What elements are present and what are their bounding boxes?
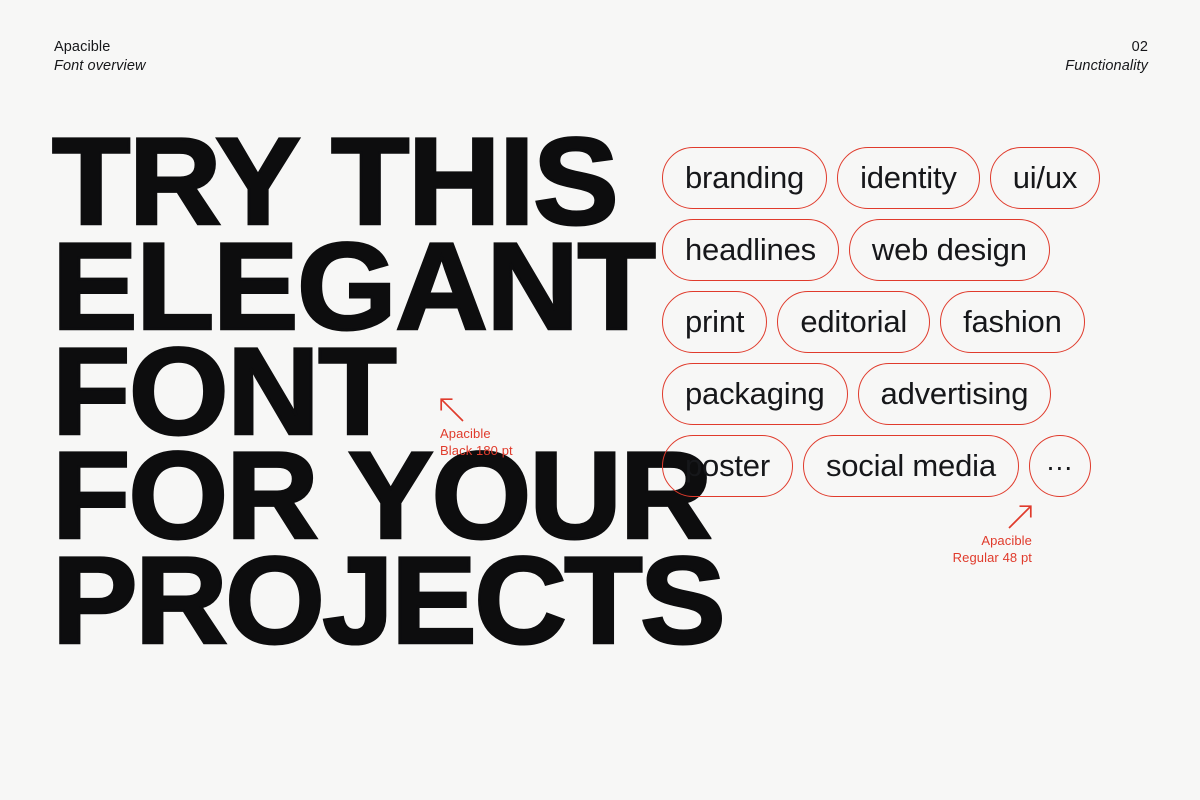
tag-pill-advertising[interactable]: advertising bbox=[858, 363, 1052, 425]
tag-pill-identity[interactable]: identity bbox=[837, 147, 980, 209]
tag-pill-print[interactable]: print bbox=[662, 291, 767, 353]
annotation-line-1: Apacible bbox=[953, 533, 1032, 550]
tag-row: poster social media … bbox=[662, 435, 1152, 497]
tag-pill-uiux[interactable]: ui/ux bbox=[990, 147, 1100, 209]
arrow-up-right-icon bbox=[1006, 505, 1032, 531]
tag-row: print editorial fashion bbox=[662, 291, 1152, 353]
annotation-line-1: Apacible bbox=[440, 426, 513, 443]
tag-pill-web-design[interactable]: web design bbox=[849, 219, 1050, 281]
slide-number: 02 bbox=[1065, 38, 1148, 57]
header-right: 02 Functionality bbox=[1065, 38, 1148, 76]
font-specimen-slide: Apacible Font overview 02 Functionality … bbox=[0, 0, 1200, 800]
headline-block: TRY THIS ELEGANT FONT FOR YOUR PROJECTS bbox=[52, 130, 732, 654]
annotation-tag-spec: Apacible Regular 48 pt bbox=[953, 505, 1032, 566]
tag-pill-editorial[interactable]: editorial bbox=[777, 291, 930, 353]
annotation-line-2: Black 180 pt bbox=[440, 443, 513, 460]
tag-pill-branding[interactable]: branding bbox=[662, 147, 827, 209]
tag-pill-more[interactable]: … bbox=[1029, 435, 1091, 497]
section-name: Functionality bbox=[1065, 57, 1148, 76]
annotation-text: Apacible Regular 48 pt bbox=[953, 533, 1032, 566]
annotation-line-2: Regular 48 pt bbox=[953, 550, 1032, 567]
annotation-text: Apacible Black 180 pt bbox=[440, 426, 513, 459]
tag-row: packaging advertising bbox=[662, 363, 1152, 425]
tag-pill-poster[interactable]: poster bbox=[662, 435, 793, 497]
tag-row: branding identity ui/ux bbox=[662, 147, 1152, 209]
tag-row: headlines web design bbox=[662, 219, 1152, 281]
arrow-up-left-icon bbox=[440, 398, 466, 424]
tag-pill-packaging[interactable]: packaging bbox=[662, 363, 848, 425]
annotation-headline-spec: Apacible Black 180 pt bbox=[440, 398, 513, 459]
tag-pill-fashion[interactable]: fashion bbox=[940, 291, 1085, 353]
headline-line-5: PROJECTS bbox=[52, 549, 756, 654]
header-left: Apacible Font overview bbox=[54, 38, 146, 76]
font-name: Apacible bbox=[54, 38, 146, 57]
tag-pill-headlines[interactable]: headlines bbox=[662, 219, 839, 281]
slide-subtitle: Font overview bbox=[54, 57, 146, 76]
tag-pill-social-media[interactable]: social media bbox=[803, 435, 1019, 497]
tag-list: branding identity ui/ux headlines web de… bbox=[662, 147, 1152, 507]
